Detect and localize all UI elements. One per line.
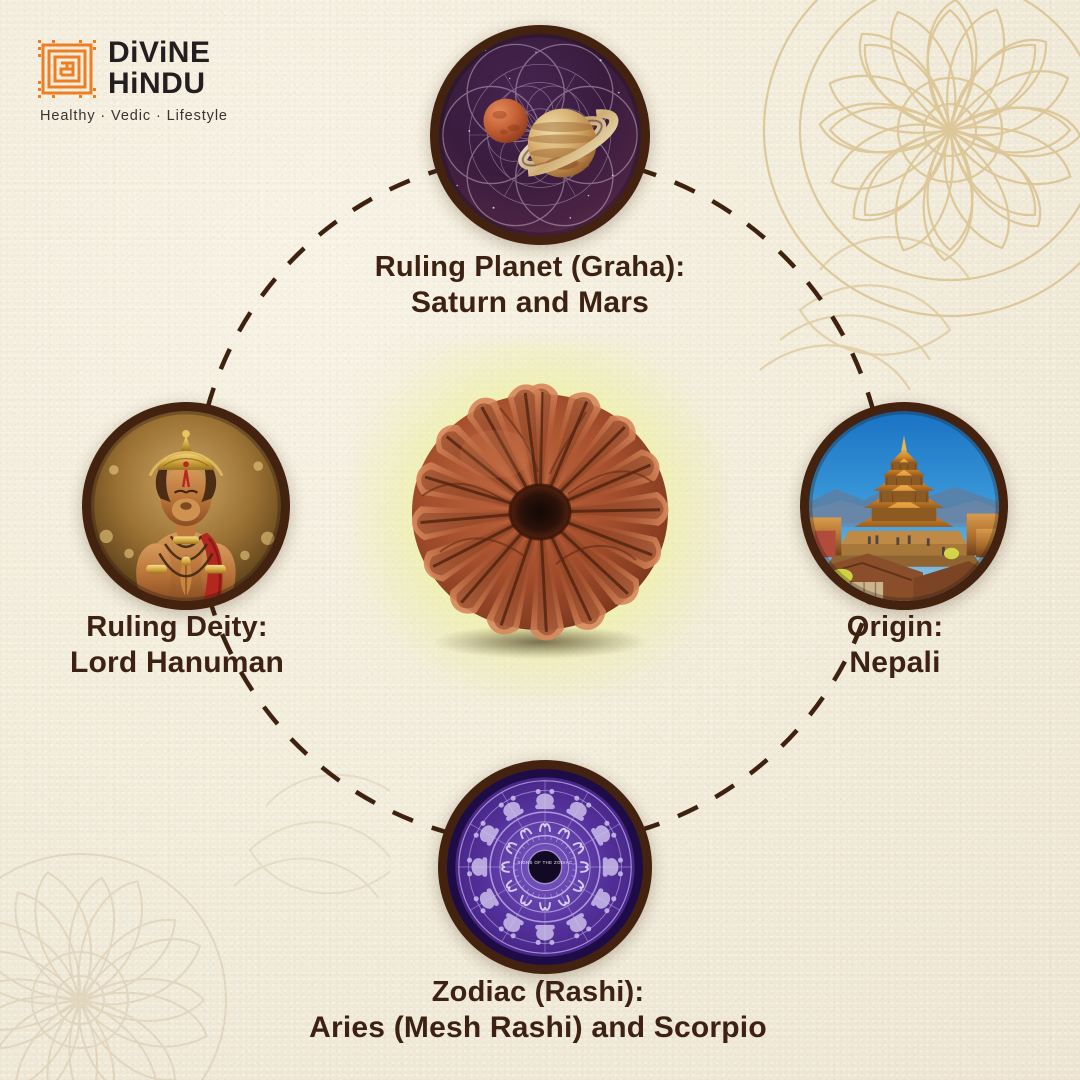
- origin-label: Origin: Nepali: [705, 610, 1080, 682]
- ruling-planet-label: Ruling Planet (Graha): Saturn and Mars: [285, 250, 775, 322]
- node-zodiac[interactable]: SIGNS OF THE ZODIAC Zodiac (Rashi): Arie…: [438, 760, 652, 974]
- node-origin[interactable]: Origin: Nepali: [800, 402, 1008, 610]
- origin-label-line2: Nepali: [705, 645, 1080, 682]
- brand-wordmark: DiViNE HiNDU: [108, 38, 210, 100]
- infographic-canvas: Ruling Planet (Graha): Saturn and Mars: [0, 0, 1080, 1080]
- brand-name-line1: DiViNE: [108, 38, 210, 69]
- nepal-pagoda-temple-icon: [809, 411, 999, 601]
- node-ruling-deity[interactable]: Ruling Deity: Lord Hanuman: [82, 402, 290, 610]
- zodiac-image[interactable]: SIGNS OF THE ZODIAC: [438, 760, 652, 974]
- rudraksha-bead-icon: [375, 370, 705, 670]
- ruling-deity-image[interactable]: [82, 402, 290, 610]
- maze-mandala-icon: [38, 40, 96, 98]
- zodiac-label-line2: Aries (Mesh Rashi) and Scorpio: [243, 1010, 833, 1047]
- lord-hanuman-icon: [91, 411, 281, 601]
- ruling-deity-label-line2: Lord Hanuman: [0, 645, 367, 682]
- brand-logo[interactable]: DiViNE HiNDU Healthy · Vedic · Lifestyle: [38, 38, 288, 133]
- ruling-planet-label-line1: Ruling Planet (Graha):: [285, 250, 775, 285]
- zodiac-label: Zodiac (Rashi): Aries (Mesh Rashi) and S…: [243, 975, 833, 1047]
- center-rudraksha: [375, 370, 705, 670]
- brand-tagline: Healthy · Vedic · Lifestyle: [40, 108, 228, 124]
- origin-image[interactable]: [800, 402, 1008, 610]
- node-ruling-planet[interactable]: Ruling Planet (Graha): Saturn and Mars: [430, 25, 650, 245]
- origin-label-line1: Origin:: [705, 610, 1080, 645]
- ruling-deity-label: Ruling Deity: Lord Hanuman: [0, 610, 367, 682]
- ruling-planet-image[interactable]: [430, 25, 650, 245]
- zodiac-wheel-icon: SIGNS OF THE ZODIAC: [447, 769, 643, 965]
- saturn-and-mars-icon: [439, 34, 641, 236]
- zodiac-hub-label: SIGNS OF THE ZODIAC: [517, 860, 572, 865]
- zodiac-label-line1: Zodiac (Rashi):: [243, 975, 833, 1010]
- ruling-deity-label-line1: Ruling Deity:: [0, 610, 367, 645]
- brand-name-line2: HiNDU: [108, 69, 210, 100]
- ruling-planet-label-line2: Saturn and Mars: [285, 285, 775, 322]
